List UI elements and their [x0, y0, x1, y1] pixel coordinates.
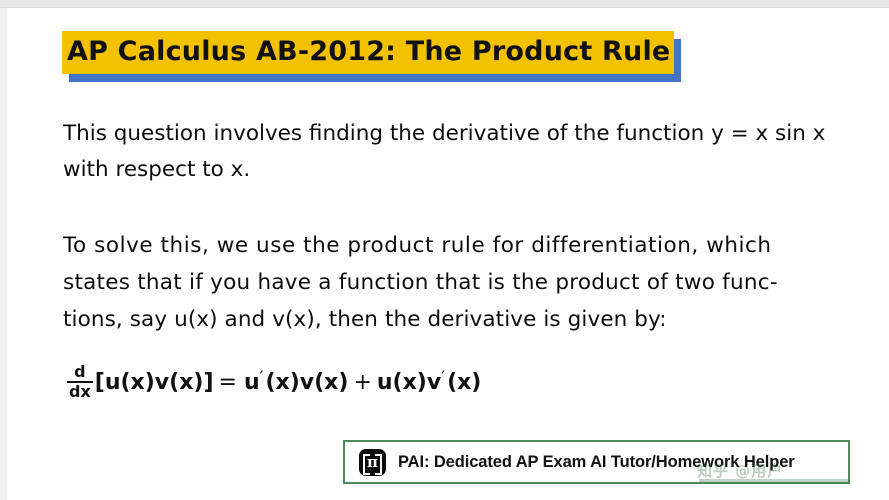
- fraction-numerator: d: [72, 364, 87, 381]
- formula-term1-rest: (x)v(x): [265, 370, 348, 395]
- paragraph-2-line-3: tions, say u(x) and v(x), then the deriv…: [63, 302, 667, 338]
- slide-canvas: AP Calculus AB-2012: The Product Rule Th…: [7, 8, 889, 500]
- formula-lhs: [u(x)v(x)]: [95, 370, 214, 395]
- derivative-operator-fraction: d dx: [67, 364, 93, 401]
- fraction-denominator: dx: [67, 383, 93, 400]
- paragraph-1-line-1: This question involves finding the deriv…: [63, 116, 825, 152]
- footer-callout-box[interactable]: π PAI: Dedicated AP Exam AI Tutor/Homewo…: [343, 440, 850, 484]
- formula-term1-function: u: [244, 370, 260, 395]
- formula-plus: +: [348, 370, 376, 395]
- footer-callout-label: PAI: Dedicated AP Exam AI Tutor/Homework…: [398, 453, 795, 472]
- slide-top-bar: [0, 0, 889, 8]
- page-title: AP Calculus AB-2012: The Product Rule: [62, 31, 674, 74]
- formula-term2-start: u(x)v: [377, 370, 441, 395]
- formula-term2-prime: ′: [441, 368, 447, 388]
- pi-icon: π: [367, 455, 378, 470]
- paragraph-2-line-2: states that if you have a function that …: [63, 265, 778, 301]
- pi-app-icon: π: [359, 449, 386, 476]
- inline-math-function: y = x sin x: [711, 121, 825, 146]
- formula-equals: =: [214, 370, 244, 395]
- product-rule-formula: d dx [u(x)v(x)] = u ′ (x)v(x) + u(x)v ′ …: [67, 364, 481, 401]
- paragraph-2-line-1: To solve this, we use the product rule f…: [63, 228, 772, 264]
- formula-term1-prime: ′: [260, 368, 266, 388]
- formula-term2-rest: (x): [447, 370, 481, 395]
- slide-frame: AP Calculus AB-2012: The Product Rule Th…: [0, 0, 889, 500]
- title-highlight-block: AP Calculus AB-2012: The Product Rule: [62, 31, 674, 74]
- page-title-text: AP Calculus AB-2012: The Product Rule: [67, 38, 670, 65]
- paragraph-1-text: This question involves finding the deriv…: [63, 121, 704, 146]
- paragraph-1-line-2: with respect to x.: [63, 152, 250, 188]
